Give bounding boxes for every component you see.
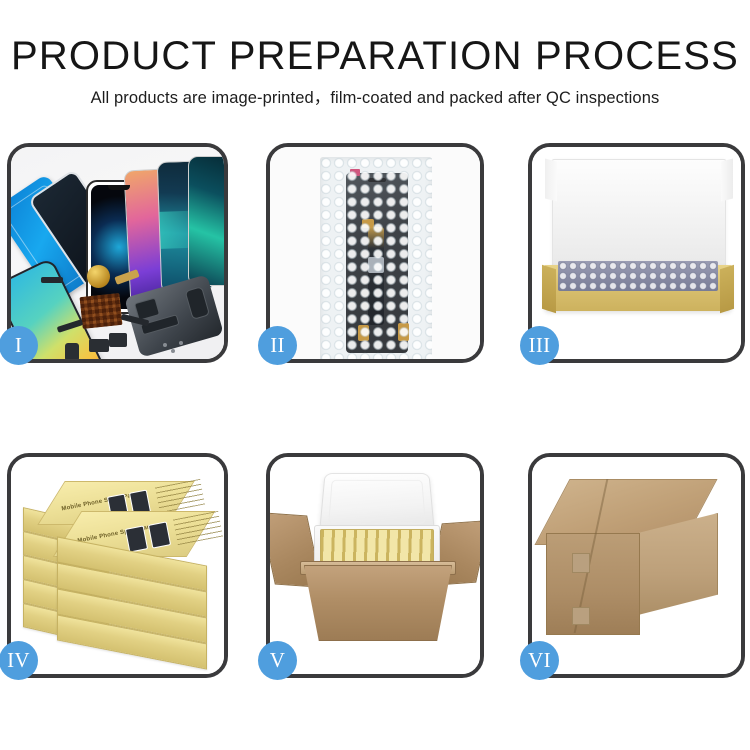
bubble-wrapped-contents [558, 261, 718, 291]
step-image-5 [270, 457, 480, 674]
open-box-photo [532, 147, 741, 359]
step-badge-3: III [520, 326, 559, 365]
step-panel-4: Mobile Phone Spare Parts Mobile Phone Sp… [7, 453, 228, 678]
bubble-wrap-photo [270, 147, 480, 359]
green-screen-icon [188, 156, 224, 286]
box-stack: Mobile Phone Spare Parts Mobile Phone Sp… [17, 473, 222, 663]
step-badge-4: IV [0, 641, 38, 680]
screw-icon [179, 341, 183, 345]
stacked-boxes-photo: Mobile Phone Spare Parts Mobile Phone Sp… [11, 457, 224, 674]
bubble-texture [320, 157, 432, 359]
step-image-2 [270, 147, 480, 359]
bubble-wrap-bag [320, 157, 432, 359]
step-badge-6: VI [520, 641, 559, 680]
step-image-4: Mobile Phone Spare Parts Mobile Phone Sp… [11, 457, 224, 674]
cardboard-carton [304, 565, 452, 641]
step-panel-6: VI [528, 453, 745, 678]
step-badge-1: I [0, 326, 38, 365]
carton-tape-patch [572, 553, 590, 573]
speaker-icon [89, 339, 109, 352]
step-image-3 [532, 147, 741, 359]
sealed-carton-photo [532, 457, 741, 674]
screw-icon [171, 349, 175, 353]
foam-lid [319, 473, 435, 532]
product-preparation-page: PRODUCT PREPARATION PROCESS All products… [0, 0, 750, 750]
phone-parts-photo [11, 147, 224, 359]
step-image-1 [11, 147, 224, 359]
gold-coil-icon [87, 265, 110, 288]
step-image-6 [532, 457, 741, 674]
step-badge-5: V [258, 641, 297, 680]
small-part-icon [65, 343, 79, 359]
step-panel-1: I [7, 143, 228, 363]
screw-icon [163, 343, 167, 347]
step-panel-5: V [266, 453, 484, 678]
carton-tape-patch [572, 607, 590, 625]
step-panel-3: III [528, 143, 745, 363]
step-panel-2: II [266, 143, 484, 363]
carton-loading-photo [270, 457, 480, 674]
step-badge-2: II [258, 326, 297, 365]
battery-strip-icon [41, 277, 63, 283]
process-step-grid: I [0, 0, 750, 750]
chip-grid-icon [79, 293, 122, 329]
small-part-icon [109, 333, 127, 347]
white-box-lid [552, 159, 726, 273]
